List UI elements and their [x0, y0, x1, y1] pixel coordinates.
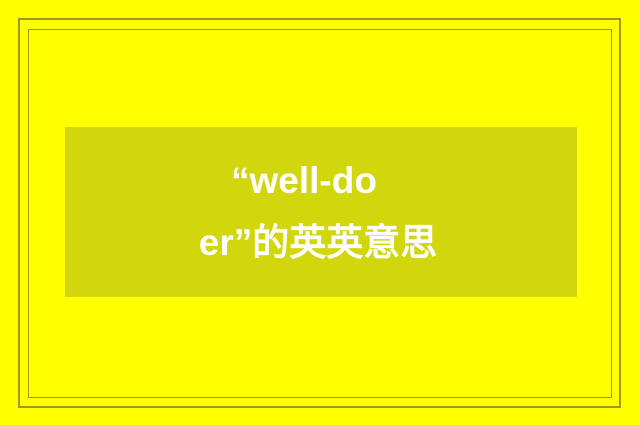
- title-plate: “well-do er”的英英意思: [65, 127, 577, 297]
- title-line-2: er”的英英意思: [199, 212, 437, 274]
- title-line-1: “well-do: [231, 150, 377, 212]
- poster-canvas: “well-do er”的英英意思: [0, 0, 640, 425]
